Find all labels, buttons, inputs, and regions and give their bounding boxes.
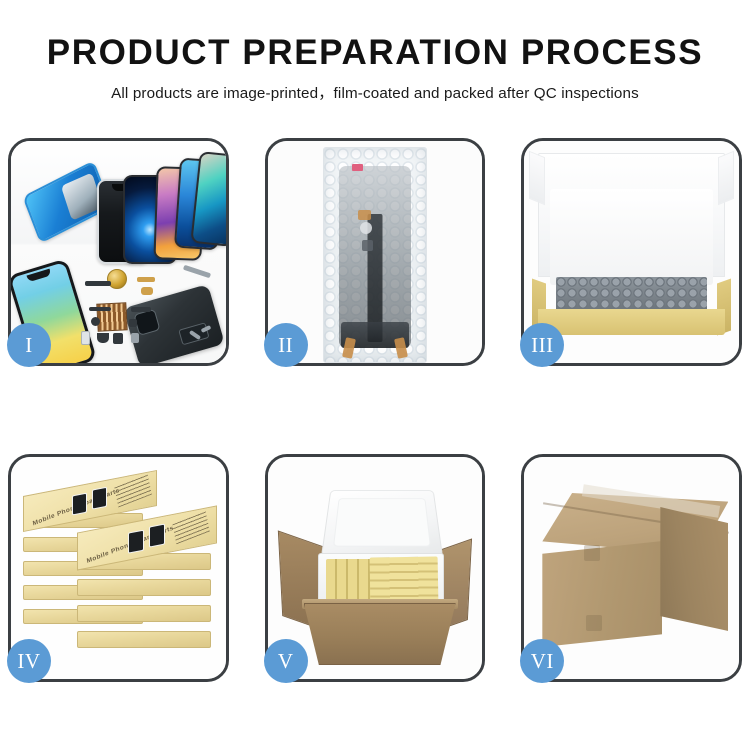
step-panel-6[interactable]: VI [521,454,742,682]
spare-part [129,319,137,327]
stacked-box [77,605,211,622]
step-badge-3: III [520,323,564,367]
spare-part [97,333,109,343]
stacked-box [77,579,211,596]
step-badge-4: IV [7,639,51,683]
box-artwork-screen [72,493,87,516]
pink-label-sticker [352,164,363,171]
step-panel-2[interactable]: II [265,138,486,366]
page-title: PRODUCT PREPARATION PROCESS [0,34,750,72]
spare-part [89,307,111,311]
carton-front-wall [304,603,456,665]
spare-part [91,317,100,326]
carton-flap-tab [586,615,602,631]
white-foam-sheet [550,189,713,285]
speaker-coil-part [107,269,127,289]
carton-side-face [660,507,728,631]
bubble-wrap-bag [323,147,427,363]
step-badge-1: I [7,323,51,367]
flex-connector-pad [362,240,373,251]
box-artwork-screen [149,524,165,548]
header: PRODUCT PREPARATION PROCESS All products… [0,34,750,103]
product-preparation-process-infographic: PRODUCT PREPARATION PROCESS All products… [0,0,750,750]
spare-part [85,281,111,286]
yellow-boxes-row [369,556,438,603]
step-badge-5: V [264,639,308,683]
flex-connector-pad [360,222,372,234]
process-steps-grid: I II [8,138,742,686]
spare-part [141,287,153,295]
box-spec-lines [172,511,210,545]
flex-connector-pad [358,210,371,220]
box-spec-lines [114,474,152,508]
box-artwork-screen [92,487,107,510]
step-panel-5[interactable]: V [265,454,486,682]
carton-front-face [542,541,662,647]
step-panel-3[interactable]: III [521,138,742,366]
box-artwork-screen [128,530,144,554]
step-panel-4[interactable]: Mobile Phone Spare Parts Mobile Phone Sp… [8,454,229,682]
styrofoam-lid [321,490,443,557]
spare-part [137,277,155,282]
carton-flap-tab [584,545,600,561]
step-badge-6: VI [520,639,564,683]
page-subtitle: All products are image-printed，film-coat… [0,81,750,103]
step-badge-2: II [264,323,308,367]
spare-part [81,331,90,345]
spare-part [131,307,151,312]
spare-part [113,333,123,344]
box-front-wall [538,309,725,335]
spare-part [131,333,139,343]
bubble-wrapped-items [556,277,707,311]
stacked-box [77,631,211,648]
step-panel-1[interactable]: I [8,138,229,366]
